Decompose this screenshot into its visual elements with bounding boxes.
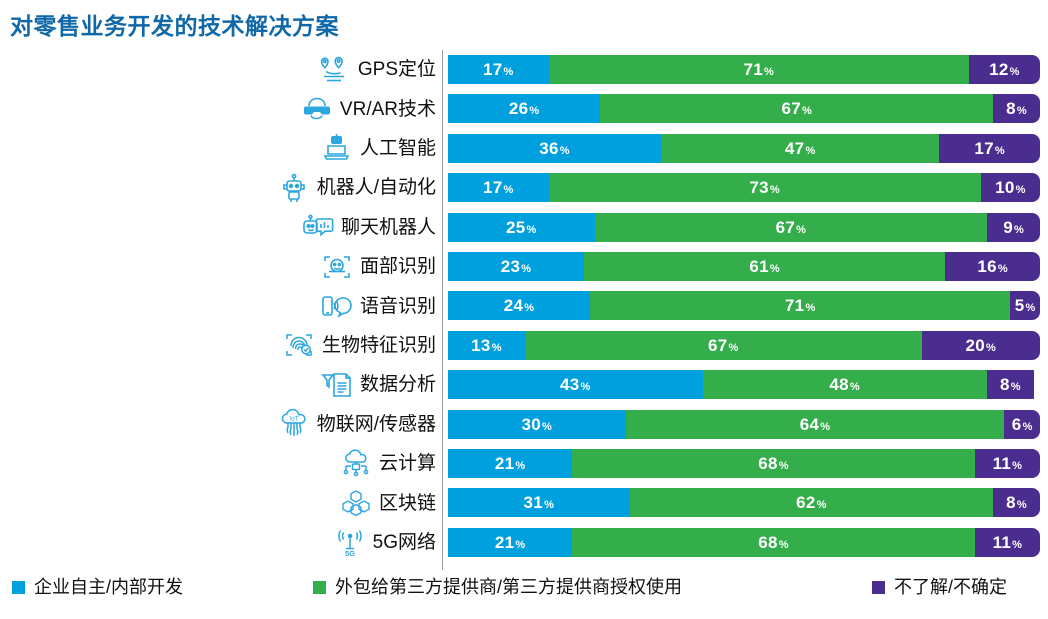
category-label: 云计算 [379,454,436,473]
percent-sign: % [769,184,780,196]
percent-sign: % [1011,539,1022,551]
chart-row: 数据分析43%48%8% [0,365,1048,404]
category-label-group: 云计算 [339,444,436,483]
bar-segment: 24% [448,291,590,320]
stacked-bar: 21%68%11% [448,449,1040,478]
square-swatch-icon [313,581,326,594]
bar-value-label: 13% [471,337,502,354]
percent-sign: % [778,460,789,472]
chart-row: 生物特征识别13%67%20% [0,326,1048,365]
bar-segment: 10% [981,173,1040,202]
bar-segment: 48% [703,370,987,399]
data-analytics-icon [320,370,354,400]
bar-segment: 21% [448,528,572,557]
bar-segment: 5% [1010,291,1040,320]
chart-row: 5G5G网络21%68%11% [0,523,1048,562]
bar-segment: 8% [987,370,1034,399]
category-label-group: 聊天机器人 [301,208,436,247]
bar-segment: 31% [448,488,630,517]
bar-value-label: 9% [1003,219,1024,236]
percent-sign: % [1016,499,1027,511]
chatbot-icon [301,212,335,242]
bar-segment: 30% [448,410,626,439]
percent-sign: % [523,302,534,314]
percent-sign: % [1013,224,1024,236]
bar-segment: 11% [975,528,1040,557]
percent-sign: % [503,184,514,196]
bar-value-label: 24% [504,297,535,314]
chart-legend: 企业自主/内部开发外包给第三方提供商/第三方提供商授权使用不了解/不确定 [0,578,1048,612]
percent-sign: % [525,224,536,236]
percent-sign: % [541,421,552,433]
bar-value-label: 17% [974,140,1005,157]
chart-row: 面部识别23%61%16% [0,247,1048,286]
bar-segment: 64% [626,410,1005,439]
bar-segment: 21% [448,449,572,478]
percent-sign: % [763,66,774,78]
percent-sign: % [1022,421,1033,433]
bar-value-label: 26% [509,100,540,117]
bar-value-label: 8% [1006,494,1027,511]
percent-sign: % [514,539,525,551]
bar-segment: 6% [1004,410,1040,439]
bar-value-label: 21% [495,455,526,472]
bar-value-label: 31% [524,494,555,511]
gps-location-icon [318,55,352,85]
bar-segment: 8% [993,94,1040,123]
category-label: 机器人/自动化 [317,178,436,197]
percent-sign: % [559,145,570,157]
bar-segment: 67% [595,213,988,242]
chart-row: GPS定位17%71%12% [0,50,1048,89]
percent-sign: % [801,105,812,117]
bar-value-label: 64% [800,416,831,433]
bar-value-label: 67% [781,100,812,117]
bar-value-label: 68% [758,534,789,551]
bar-value-label: 12% [989,61,1020,78]
percent-sign: % [1010,381,1021,393]
bar-segment: 62% [630,488,993,517]
blockchain-icon [339,488,373,518]
bar-segment: 11% [975,449,1040,478]
robot-icon [277,173,311,203]
bar-value-label: 30% [521,416,552,433]
bar-value-label: 67% [708,337,739,354]
bar-value-label: 8% [1006,100,1027,117]
bar-segment: 61% [584,252,945,281]
category-label: VR/AR技术 [340,100,436,119]
vr-headset-icon [300,94,334,124]
bar-segment: 47% [661,134,939,163]
percent-sign: % [503,66,514,78]
voice-recognition-icon [320,291,354,321]
bar-segment: 8% [993,488,1040,517]
stacked-bar: 31%62%8% [448,488,1040,517]
bar-value-label: 10% [995,179,1026,196]
percent-sign: % [769,263,780,275]
category-label: 语音识别 [360,297,436,316]
bar-segment: 9% [987,213,1040,242]
category-label-group: 面部识别 [320,247,436,286]
category-label: 区块链 [379,494,436,513]
stacked-bar: 26%67%8% [448,94,1040,123]
percent-sign: % [1011,460,1022,472]
percent-sign: % [985,342,996,354]
percent-sign: % [491,342,502,354]
percent-sign: % [1025,302,1036,314]
percent-sign: % [997,263,1008,275]
stacked-bar: 30%64%6% [448,410,1040,439]
category-label: 聊天机器人 [341,218,436,237]
bar-value-label: 68% [758,455,789,472]
category-label-group: 人工智能 [320,129,436,168]
percent-sign: % [778,539,789,551]
chart-row: VR/AR技术26%67%8% [0,89,1048,128]
bar-value-label: 11% [993,534,1023,551]
stacked-bar: 17%73%10% [448,173,1040,202]
stacked-bar: 23%61%16% [448,252,1040,281]
category-label: 数据分析 [360,375,436,394]
bar-value-label: 17% [483,61,514,78]
5g-network-icon: 5G [333,527,367,557]
cloud-computing-icon [339,449,373,479]
bar-segment: 12% [969,55,1040,84]
bar-segment: 16% [945,252,1040,281]
category-label: 5G网络 [373,533,436,552]
bar-segment: 71% [549,55,969,84]
bar-value-label: 16% [977,258,1008,275]
legend-label: 企业自主/内部开发 [34,578,183,596]
bar-segment: 20% [922,331,1040,360]
bar-value-label: 43% [560,376,591,393]
chart-row: 语音识别24%71%5% [0,286,1048,325]
bar-segment: 68% [572,449,975,478]
percent-sign: % [994,145,1005,157]
bar-value-label: 5% [1015,297,1036,314]
bar-value-label: 21% [495,534,526,551]
chart-row: 云计算21%68%11% [0,444,1048,483]
category-label-group: 语音识别 [320,286,436,325]
bar-value-label: 62% [796,494,827,511]
stacked-bar: 36%47%17% [448,134,1040,163]
category-label-group: 数据分析 [320,365,436,404]
chart-row: 人工智能36%47%17% [0,129,1048,168]
chart-row: 机器人/自动化17%73%10% [0,168,1048,207]
bar-value-label: 61% [749,258,780,275]
bar-segment: 67% [600,94,993,123]
bar-value-label: 8% [1000,376,1021,393]
stacked-bar: 43%48%8% [448,370,1040,399]
face-recognition-icon [320,252,354,282]
category-label: 面部识别 [360,257,436,276]
category-label-group: IoT物联网/传感器 [277,405,436,444]
bar-segment: 67% [525,331,922,360]
bar-segment: 17% [448,173,549,202]
stacked-bar: 25%67%9% [448,213,1040,242]
category-label: 人工智能 [360,139,436,158]
percent-sign: % [514,460,525,472]
bar-value-label: 67% [776,219,807,236]
svg-text:IoT: IoT [289,416,298,423]
bar-segment: 17% [939,134,1040,163]
square-swatch-icon [12,581,25,594]
category-label-group: 生物特征识别 [282,326,436,365]
percent-sign: % [804,145,815,157]
bar-value-label: 47% [785,140,816,157]
bar-value-label: 73% [749,179,780,196]
bar-segment: 71% [590,291,1010,320]
category-label-group: 机器人/自动化 [277,168,436,207]
legend-label: 不了解/不确定 [894,578,1007,596]
bar-value-label: 11% [993,455,1023,472]
chart-row: 区块链31%62%8% [0,483,1048,522]
biometric-fingerprint-icon [282,330,316,360]
bar-segment: 73% [549,173,981,202]
chart-row: 聊天机器人25%67%9% [0,208,1048,247]
chart-row: IoT物联网/传感器30%64%6% [0,405,1048,444]
percent-sign: % [819,421,830,433]
percent-sign: % [579,381,590,393]
stacked-bar: 24%71%5% [448,291,1040,320]
bar-segment: 25% [448,213,595,242]
category-label-group: VR/AR技术 [300,89,436,128]
iot-cloud-icon: IoT [277,409,311,439]
stacked-bar: 21%68%11% [448,528,1040,557]
legend-item[interactable]: 企业自主/内部开发 [12,578,183,596]
percent-sign: % [816,499,827,511]
svg-text:5G: 5G [345,549,355,557]
category-label: 物联网/传感器 [317,415,436,434]
legend-label: 外包给第三方提供商/第三方提供商授权使用 [335,578,682,596]
square-swatch-icon [872,581,885,594]
category-label: 生物特征识别 [322,336,436,355]
page-title: 对零售业务开发的技术解决方案 [10,7,339,41]
stacked-bar: 13%67%20% [448,331,1040,360]
bar-value-label: 71% [785,297,816,314]
percent-sign: % [1016,105,1027,117]
bar-segment: 68% [572,528,975,557]
bar-segment: 43% [448,370,703,399]
percent-sign: % [804,302,815,314]
bar-value-label: 36% [539,140,570,157]
bar-segment: 17% [448,55,549,84]
bar-value-label: 23% [501,258,532,275]
bar-segment: 26% [448,94,600,123]
bar-value-label: 71% [743,61,774,78]
percent-sign: % [727,342,738,354]
category-label-group: GPS定位 [318,50,436,89]
bar-value-label: 6% [1012,416,1033,433]
percent-sign: % [528,105,539,117]
category-label-group: 5G5G网络 [333,523,436,562]
ai-laptop-icon [320,133,354,163]
stacked-bar-chart: GPS定位17%71%12%VR/AR技术26%67%8%人工智能36%47%1… [0,50,1048,570]
percent-sign: % [1015,184,1026,196]
bar-segment: 13% [448,331,525,360]
bar-value-label: 25% [506,219,537,236]
percent-sign: % [520,263,531,275]
percent-sign: % [795,224,806,236]
category-label-group: 区块链 [339,483,436,522]
bar-value-label: 48% [829,376,860,393]
bar-segment: 23% [448,252,584,281]
percent-sign: % [543,499,554,511]
stacked-bar: 17%71%12% [448,55,1040,84]
category-label: GPS定位 [358,60,436,79]
percent-sign: % [849,381,860,393]
legend-item[interactable]: 不了解/不确定 [872,578,1007,596]
percent-sign: % [1009,66,1020,78]
bar-value-label: 17% [483,179,514,196]
bar-value-label: 20% [965,337,996,354]
legend-item[interactable]: 外包给第三方提供商/第三方提供商授权使用 [313,578,682,596]
bar-segment: 36% [448,134,661,163]
